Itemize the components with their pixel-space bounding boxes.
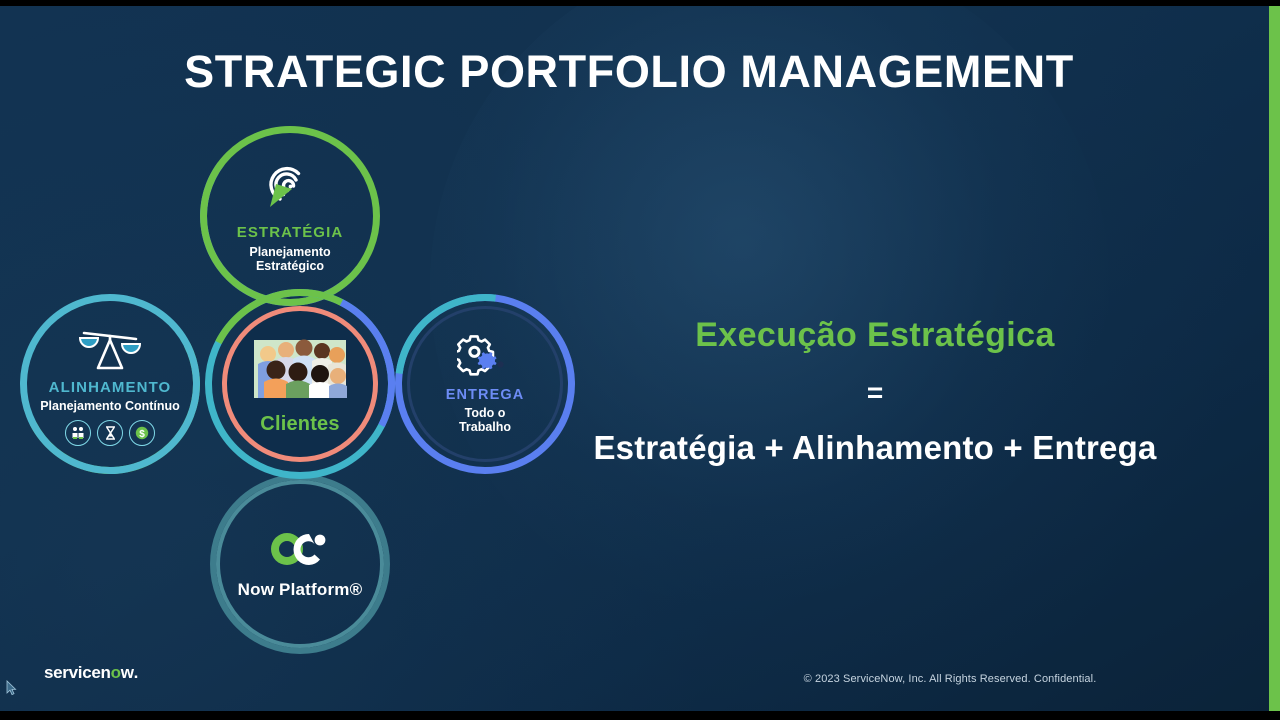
now-platform-title: Now Platform® <box>238 581 363 599</box>
servicenow-logo: servicenow. <box>44 663 138 683</box>
logo-text-part2: w <box>121 663 134 683</box>
hourglass-icon <box>97 420 123 446</box>
servicenow-loop-icon <box>269 529 331 569</box>
letterbox-bar-bottom <box>0 711 1280 720</box>
circle-alinhamento-content: ALINHAMENTO Planejamento Contínuo <box>20 294 200 474</box>
balance-scale-icon <box>78 322 142 374</box>
circle-now-platform-content: Now Platform® <box>210 474 390 654</box>
clientes-title: Clientes <box>260 414 339 435</box>
target-arrow-icon <box>262 159 318 215</box>
circle-cluster: ESTRATÉGIA Planejamento Estratégico <box>10 116 570 666</box>
dollar-icon: $ <box>129 420 155 446</box>
alinhamento-badge-row: $ <box>65 420 155 446</box>
estrategia-title: ESTRATÉGIA <box>237 225 344 241</box>
slide-canvas: STRATEGIC PORTFOLIO MANAGEMENT <box>0 6 1280 711</box>
estrategia-subtitle-line2: Estratégico <box>256 259 324 273</box>
entrega-subtitle-line2: Trabalho <box>459 420 511 434</box>
page-title: STRATEGIC PORTFOLIO MANAGEMENT <box>0 46 1258 98</box>
accent-strip-right <box>1269 6 1280 711</box>
circle-estrategia-content: ESTRATÉGIA Planejamento Estratégico <box>200 126 380 306</box>
people-icon <box>65 420 91 446</box>
circle-entrega-content: ENTREGA Todo o Trabalho <box>395 294 575 474</box>
logo-text-part1: service <box>44 663 101 683</box>
diverse-people-illustration <box>250 334 350 406</box>
entrega-subtitle-line1: Todo o <box>465 406 506 420</box>
estrategia-subtitle-line1: Planejamento <box>249 245 330 259</box>
equation-operator: = <box>545 377 1205 409</box>
equation-line2: Estratégia + Alinhamento + Entrega <box>545 429 1205 467</box>
copyright-text: © 2023 ServiceNow, Inc. All Rights Reser… <box>700 673 1200 685</box>
alinhamento-subtitle-line1: Planejamento Contínuo <box>40 399 180 413</box>
alinhamento-title: ALINHAMENTO <box>49 380 172 396</box>
circle-clientes-content: Clientes <box>222 306 378 462</box>
screen: STRATEGIC PORTFOLIO MANAGEMENT <box>0 0 1280 720</box>
gears-icon <box>457 334 513 380</box>
svg-text:$: $ <box>139 429 145 440</box>
letterbox-bar-top <box>0 0 1280 6</box>
equation-line1: Execução Estratégica <box>545 316 1205 355</box>
logo-mark-o: o <box>111 663 121 683</box>
entrega-title: ENTREGA <box>446 388 525 403</box>
equation-block: Execução Estratégica = Estratégia + Alin… <box>545 316 1205 467</box>
logo-text-dot: . <box>134 663 138 683</box>
logo-text-n: n <box>101 663 111 683</box>
